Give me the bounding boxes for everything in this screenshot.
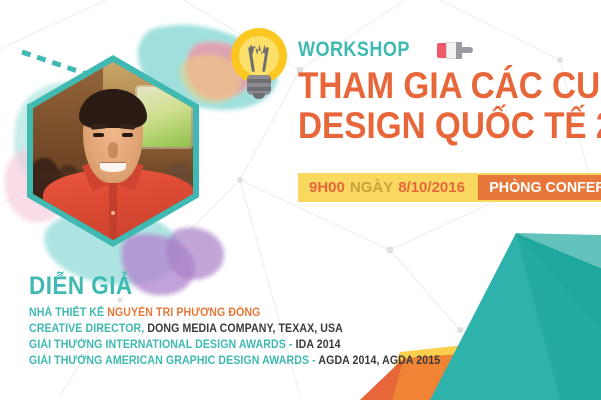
lightbulb-base [247, 75, 271, 95]
speaker-line-4-label: GIẢI THƯỞNG AMERICAN GRAPHIC DESIGN AWAR… [29, 355, 316, 367]
speaker-line-4: GIẢI THƯỞNG AMERICAN GRAPHIC DESIGN AWAR… [29, 353, 360, 369]
time-badge-date: 8/10/2016 [398, 179, 465, 196]
speaker-line-2-value: DONG MEDIA COMPANY, TEXAX, USA [147, 323, 343, 335]
speaker-photo-hexagon [27, 55, 199, 247]
workshop-poster: WORKSHOP THAM GIA CÁC CUỘC THI DESIGN QU… [0, 0, 601, 400]
speaker-line-1-value: NGUYỄN TRI PHƯƠNG ĐÔNG [107, 307, 260, 319]
paintbrush-handle [461, 47, 473, 53]
photo-nose [108, 142, 118, 158]
paintbrush-bristles [437, 43, 446, 58]
room-badge: PHÒNG CONFERENCE [476, 173, 601, 202]
time-badge: 9H00 NGÀY 8/10/2016 [298, 173, 476, 202]
speaker-line-2: CREATIVE DIRECTOR, DONG MEDIA COMPANY, T… [29, 321, 360, 337]
speaker-line-2-label: CREATIVE DIRECTOR, [29, 323, 144, 335]
time-badge-day-label: NGÀY [350, 179, 393, 196]
workshop-kicker-row: WORKSHOP [298, 38, 473, 62]
speaker-details: NHÀ THIẾT KẾ NGUYỄN TRI PHƯƠNG ĐÔNG CREA… [29, 305, 389, 369]
photo-eye-right [122, 133, 133, 137]
lightbulb-icon [228, 28, 290, 104]
speaker-line-3-value: IDA 2014 [296, 339, 341, 351]
poster-title-line-2: DESIGN QUỐC TẾ 2017 [298, 106, 601, 146]
paintbrush-icon [437, 42, 473, 59]
event-badges: 9H00 NGÀY 8/10/2016 PHÒNG CONFERENCE [298, 173, 601, 202]
lightbulb-glow [239, 36, 279, 76]
speaker-line-3: GIẢI THƯỞNG INTERNATIONAL DESIGN AWARDS … [29, 337, 360, 353]
poster-title-line-1: THAM GIA CÁC CUỘC THI [298, 66, 601, 106]
speaker-heading: DIỄN GIẢ [29, 272, 133, 301]
workshop-kicker-label: WORKSHOP [298, 38, 410, 62]
speaker-line-1-label: NHÀ THIẾT KẾ [29, 307, 104, 319]
speaker-line-3-label: GIẢI THƯỞNG INTERNATIONAL DESIGN AWARDS … [29, 339, 293, 351]
time-badge-hour: 9H00 [309, 179, 345, 196]
lightbulb-tip [253, 93, 265, 99]
photo-eye-left [93, 133, 104, 137]
speaker-line-1: NHÀ THIẾT KẾ NGUYỄN TRI PHƯƠNG ĐÔNG [29, 305, 360, 321]
speaker-line-4-value: AGDA 2014, AGDA 2015 [318, 355, 440, 367]
